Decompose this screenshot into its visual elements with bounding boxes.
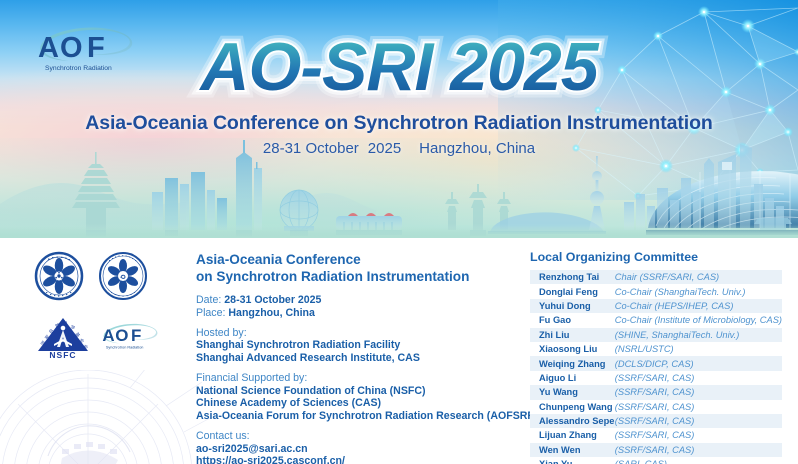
- committee-member-name: Yu Wang: [530, 385, 615, 399]
- local-organizing-committee: Local Organizing Committee Renzhong TaiC…: [530, 250, 782, 464]
- hero-banner: A O F Synchrotron Radiation: [0, 0, 798, 238]
- committee-member-name: Wen Wen: [530, 443, 615, 457]
- committee-row: Wen Wen(SSRF/SARI, CAS): [530, 443, 782, 457]
- event-title: AO-SRI 2025 AO-SRI 2025 AO-SRI 2025 AO-S…: [49, 32, 749, 108]
- committee-row: Xiaosong Liu(NSRL/USTC): [530, 342, 782, 356]
- date-label: Date:: [196, 294, 221, 306]
- event-title-wrap: AO-SRI 2025 AO-SRI 2025 AO-SRI 2025 AO-S…: [0, 32, 798, 108]
- committee-row: Renzhong TaiChair (SSRF/SARI, CAS): [530, 270, 782, 284]
- committee-member-role: (SSRF/SARI, CAS): [615, 414, 782, 428]
- info-funding: Financial Supported by: National Science…: [196, 372, 526, 422]
- committee-member-name: Xiaosong Liu: [530, 342, 615, 356]
- committee-member-name: Aiguo Li: [530, 371, 615, 385]
- committee-member-role: (NSRL/USTC): [615, 342, 782, 356]
- event-location: Hangzhou, China: [419, 140, 535, 157]
- info-contact: Contact us: ao-sri2025@sari.ac.cn https:…: [196, 430, 526, 464]
- committee-table: Renzhong TaiChair (SSRF/SARI, CAS)Dongla…: [530, 270, 782, 464]
- committee-member-role: (SSRF/SARI, CAS): [615, 443, 782, 457]
- contact-email[interactable]: ao-sri2025@sari.ac.cn: [196, 443, 526, 456]
- committee-member-name: Renzhong Tai: [530, 270, 615, 284]
- funder-2: Chinese Academy of Sciences (CAS): [196, 397, 526, 410]
- poster-root: A O F Synchrotron Radiation: [0, 0, 798, 464]
- committee-member-name: Zhi Liu: [530, 328, 615, 342]
- hosted-label: Hosted by:: [196, 327, 526, 340]
- event-subtitle: Asia-Oceania Conference on Synchrotron R…: [0, 112, 798, 135]
- info-heading-line1: Asia-Oceania Conference: [196, 252, 361, 267]
- svg-text:F: F: [131, 326, 141, 345]
- committee-member-role: (SSRF/SARI, CAS): [615, 371, 782, 385]
- svg-text:O: O: [115, 326, 128, 345]
- committee-member-name: Alessandro Sepe: [530, 414, 615, 428]
- committee-member-role: Co-Chair (ShanghaiTech. Univ.): [615, 284, 782, 298]
- committee-member-name: Yuhui Dong: [530, 299, 615, 313]
- committee-member-name: Lijuan Zhang: [530, 428, 615, 442]
- committee-member-name: Weiqing Zhang: [530, 356, 615, 370]
- committee-member-name: Donglai Feng: [530, 284, 615, 298]
- content-area: 国 家 自 然 科 学 基 金 会 NSFC: [0, 238, 798, 464]
- sponsor-logo-block: 国 家 自 然 科 学 基 金 会 NSFC: [34, 250, 184, 360]
- committee-row: Alessandro Sepe(SSRF/SARI, CAS): [530, 414, 782, 428]
- committee-member-name: Fu Gao: [530, 313, 615, 327]
- info-heading: Asia-Oceania Conference on Synchrotron R…: [196, 252, 526, 285]
- committee-member-role: (SHINE, ShanghaiTech. Univ.): [615, 328, 782, 342]
- nsfc-logo-icon: 国 家 自 然 科 学 基 金 会 NSFC: [34, 315, 92, 359]
- info-when-where: Date: 28-31 October 2025 Place: Hangzhou…: [196, 294, 526, 319]
- committee-row: Chunpeng Wang(SSRF/SARI, CAS): [530, 400, 782, 414]
- committee-member-role: (SSRF/SARI, CAS): [615, 385, 782, 399]
- shanghai-advanced-research-institute-logo-icon: [98, 251, 148, 301]
- banner-base-strip: [0, 226, 798, 238]
- chinese-academy-of-sciences-logo-icon: [34, 251, 84, 301]
- committee-row: Donglai FengCo-Chair (ShanghaiTech. Univ…: [530, 284, 782, 298]
- event-info-panel: Asia-Oceania Conference on Synchrotron R…: [196, 252, 526, 464]
- committee-row: Xian Yu(SARI, CAS): [530, 457, 782, 464]
- aof-tagline-small: Synchrotron Radiation: [106, 346, 144, 350]
- svg-text:科: 科: [63, 320, 68, 327]
- committee-row: Aiguo Li(SSRF/SARI, CAS): [530, 371, 782, 385]
- funding-label: Financial Supported by:: [196, 372, 526, 385]
- date-value: 28-31 October 2025: [224, 294, 321, 306]
- committee-member-role: (SSRF/SARI, CAS): [615, 400, 782, 414]
- host-1: Shanghai Synchrotron Radiation Facility: [196, 339, 526, 352]
- funder-3: Asia-Oceania Forum for Synchrotron Radia…: [196, 410, 526, 423]
- info-heading-line2: on Synchrotron Radiation Instrumentation: [196, 269, 469, 284]
- event-dates: 28-31 October: [263, 140, 359, 157]
- svg-text:A: A: [102, 326, 114, 345]
- place-value: Hangzhou, China: [228, 307, 315, 319]
- event-year: 2025: [368, 140, 401, 157]
- contact-url[interactable]: https://ao-sri2025.casconf.cn/: [196, 455, 526, 464]
- committee-member-name: Chunpeng Wang: [530, 400, 615, 414]
- event-title-text: AO-SRI 2025: [198, 32, 599, 105]
- committee-member-role: (DCLS/DICP, CAS): [615, 356, 782, 370]
- committee-member-role: Co-Chair (Institute of Microbiology, CAS…: [615, 313, 782, 327]
- event-date-location: 28-31 October2025Hangzhou, China: [0, 140, 798, 157]
- contact-label: Contact us:: [196, 430, 526, 443]
- committee-row: Fu GaoCo-Chair (Institute of Microbiolog…: [530, 313, 782, 327]
- committee-member-name: Xian Yu: [530, 457, 615, 464]
- funder-1: National Science Foundation of China (NS…: [196, 385, 526, 398]
- committee-row: Yuhui DongCo-Chair (HEPS/IHEP, CAS): [530, 299, 782, 313]
- host-2: Shanghai Advanced Research Institute, CA…: [196, 352, 526, 365]
- committee-member-role: (SSRF/SARI, CAS): [615, 428, 782, 442]
- committee-member-role: Co-Chair (HEPS/IHEP, CAS): [615, 299, 782, 313]
- committee-member-role: (SARI, CAS): [615, 457, 782, 464]
- committee-row: Zhi Liu(SHINE, ShanghaiTech. Univ.): [530, 328, 782, 342]
- city-skyline-icon: [0, 118, 798, 238]
- info-hosted-by: Hosted by: Shanghai Synchrotron Radiatio…: [196, 327, 526, 365]
- committee-member-role: Chair (SSRF/SARI, CAS): [615, 270, 782, 284]
- committee-row: Yu Wang(SSRF/SARI, CAS): [530, 385, 782, 399]
- synchrotron-ring-watermark-icon: [0, 370, 210, 464]
- committee-title: Local Organizing Committee: [530, 250, 782, 264]
- nsfc-wordmark: NSFC: [49, 350, 76, 359]
- aof-logo-icon-small: A O F Synchrotron Radiation: [100, 316, 162, 358]
- committee-row: Weiqing Zhang(DCLS/DICP, CAS): [530, 356, 782, 370]
- committee-row: Lijuan Zhang(SSRF/SARI, CAS): [530, 428, 782, 442]
- place-label: Place:: [196, 307, 225, 319]
